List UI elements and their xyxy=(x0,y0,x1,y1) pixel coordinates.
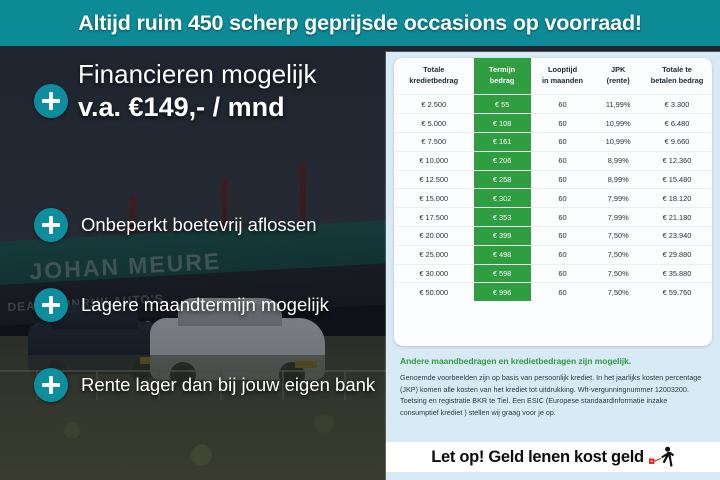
table-cell: € 353 xyxy=(474,208,531,227)
table-row: € 12.500€ 258608,99%€ 15.480 xyxy=(394,170,712,189)
rate-table: TotalekredietbedragTermijnbedragLooptijd… xyxy=(394,58,712,301)
loan-warning-banner: Let op! Geld lenen kost geld xyxy=(386,442,720,472)
table-cell: € 15.480 xyxy=(642,170,712,189)
table-header-cell: Termijnbedrag xyxy=(474,58,531,95)
table-cell: € 258 xyxy=(474,170,531,189)
promo-bullet-label: Rente lager dan bij jouw eigen bank xyxy=(81,374,375,396)
table-cell: 7,50% xyxy=(594,264,642,283)
table-cell: 11,99% xyxy=(594,95,642,114)
rate-table-card: TotalekredietbedragTermijnbedragLooptijd… xyxy=(394,58,712,346)
table-cell: € 108 xyxy=(474,114,531,133)
table-cell: 7,50% xyxy=(594,283,642,301)
table-cell: 60 xyxy=(531,133,595,152)
table-cell: € 15.000 xyxy=(394,189,474,208)
table-cell: € 7.500 xyxy=(394,133,474,152)
promo-headline: Financieren mogelijk v.a. €149,- / mnd xyxy=(78,60,378,122)
top-banner: Altijd ruim 450 scherp geprijsde occasio… xyxy=(0,0,720,46)
table-cell: € 30.000 xyxy=(394,264,474,283)
table-row: € 20.000€ 399607,50%€ 23.940 xyxy=(394,226,712,245)
table-cell: € 206 xyxy=(474,151,531,170)
table-row: € 30.000€ 598607,50%€ 35.880 xyxy=(394,264,712,283)
table-cell: € 996 xyxy=(474,283,531,301)
table-cell: € 29.880 xyxy=(642,245,712,264)
table-cell: € 25.000 xyxy=(394,245,474,264)
table-cell: 7,50% xyxy=(594,245,642,264)
table-cell: 7,99% xyxy=(594,208,642,227)
table-row: € 7.500€ 1616010,99%€ 9.660 xyxy=(394,133,712,152)
table-cell: € 598 xyxy=(474,264,531,283)
table-row: € 50.000€ 996607,50%€ 59.760 xyxy=(394,283,712,301)
table-cell: 8,99% xyxy=(594,170,642,189)
table-cell: € 50.000 xyxy=(394,283,474,301)
table-cell: 10,99% xyxy=(594,114,642,133)
table-cell: € 23.940 xyxy=(642,226,712,245)
table-cell: € 12.360 xyxy=(642,151,712,170)
table-row: € 5.000€ 1086010,99%€ 6.480 xyxy=(394,114,712,133)
table-cell: € 59.760 xyxy=(642,283,712,301)
plus-icon xyxy=(34,208,68,242)
table-cell: 60 xyxy=(531,264,595,283)
table-cell: € 6.480 xyxy=(642,114,712,133)
table-cell: € 18.120 xyxy=(642,189,712,208)
table-cell: € 10.000 xyxy=(394,151,474,170)
table-header-cell: Totalekredietbedrag xyxy=(394,58,474,95)
table-row: € 2.500€ 556011,99%€ 3.300 xyxy=(394,95,712,114)
table-header-row: TotalekredietbedragTermijnbedragLooptijd… xyxy=(394,58,712,95)
table-row: € 25.000€ 498607,50%€ 29.880 xyxy=(394,245,712,264)
table-header-cell: JPK(rente) xyxy=(594,58,642,95)
table-cell: € 399 xyxy=(474,226,531,245)
promo-headline-line2: v.a. €149,- / mnd xyxy=(78,92,378,123)
table-cell: 60 xyxy=(531,114,595,133)
loan-warning-text: Let op! Geld lenen kost geld xyxy=(431,448,644,467)
table-header-cell: Looptijdin maanden xyxy=(531,58,595,95)
afm-walking-person-icon xyxy=(649,446,675,468)
table-cell: € 17.500 xyxy=(394,208,474,227)
promo-section: Financieren mogelijk v.a. €149,- / mnd O… xyxy=(0,46,386,480)
table-header-cell: Totale tebetalen bedrag xyxy=(642,58,712,95)
table-cell: 60 xyxy=(531,283,595,301)
table-cell: € 9.660 xyxy=(642,133,712,152)
advertisement-page: JOHAN MEURE DEALER INRUILAUTO'S ALTIJD 4… xyxy=(0,0,720,480)
table-cell: 8,99% xyxy=(594,151,642,170)
promo-bullet-1: Onbeperkt boetevrij aflossen xyxy=(34,208,317,242)
table-cell: 60 xyxy=(531,226,595,245)
table-cell: € 302 xyxy=(474,189,531,208)
banner-headline: Altijd ruim 450 scherp geprijsde occasio… xyxy=(0,0,720,46)
table-cell: 7,50% xyxy=(594,226,642,245)
promo-bullet-3: Rente lager dan bij jouw eigen bank xyxy=(34,368,375,402)
table-cell: 7,99% xyxy=(594,189,642,208)
table-cell: € 2.500 xyxy=(394,95,474,114)
table-row: € 15.000€ 302607,99%€ 18.120 xyxy=(394,189,712,208)
plus-icon xyxy=(34,84,68,118)
plus-icon xyxy=(34,368,68,402)
table-cell: € 5.000 xyxy=(394,114,474,133)
table-cell: € 3.300 xyxy=(642,95,712,114)
financing-info-panel: TotalekredietbedragTermijnbedragLooptijd… xyxy=(386,52,720,480)
disclaimer-block: Andere maandbedragen en kredietbedragen … xyxy=(400,356,706,419)
table-cell: € 55 xyxy=(474,95,531,114)
promo-bullet-label: Lagere maandtermijn mogelijk xyxy=(81,294,329,316)
table-row: € 17.500€ 353607,99%€ 21.180 xyxy=(394,208,712,227)
table-cell: 60 xyxy=(531,170,595,189)
table-cell: 10,99% xyxy=(594,133,642,152)
table-cell: 60 xyxy=(531,151,595,170)
plus-icon xyxy=(34,288,68,322)
disclaimer-title: Andere maandbedragen en kredietbedragen … xyxy=(400,356,706,366)
promo-bullet-2: Lagere maandtermijn mogelijk xyxy=(34,288,329,322)
table-cell: 60 xyxy=(531,95,595,114)
promo-bullet-label: Onbeperkt boetevrij aflossen xyxy=(81,214,317,236)
table-cell: € 20.000 xyxy=(394,226,474,245)
table-cell: € 161 xyxy=(474,133,531,152)
table-cell: 60 xyxy=(531,189,595,208)
table-row: € 10.000€ 206608,99%€ 12.360 xyxy=(394,151,712,170)
disclaimer-body: Genoemde voorbeelden zijn op basis van p… xyxy=(400,372,706,419)
table-cell: 60 xyxy=(531,208,595,227)
table-cell: € 21.180 xyxy=(642,208,712,227)
table-cell: € 12.500 xyxy=(394,170,474,189)
promo-headline-line1: Financieren mogelijk xyxy=(78,59,316,89)
table-cell: 60 xyxy=(531,245,595,264)
table-body: € 2.500€ 556011,99%€ 3.300€ 5.000€ 10860… xyxy=(394,95,712,301)
table-cell: € 35.880 xyxy=(642,264,712,283)
table-cell: € 498 xyxy=(474,245,531,264)
